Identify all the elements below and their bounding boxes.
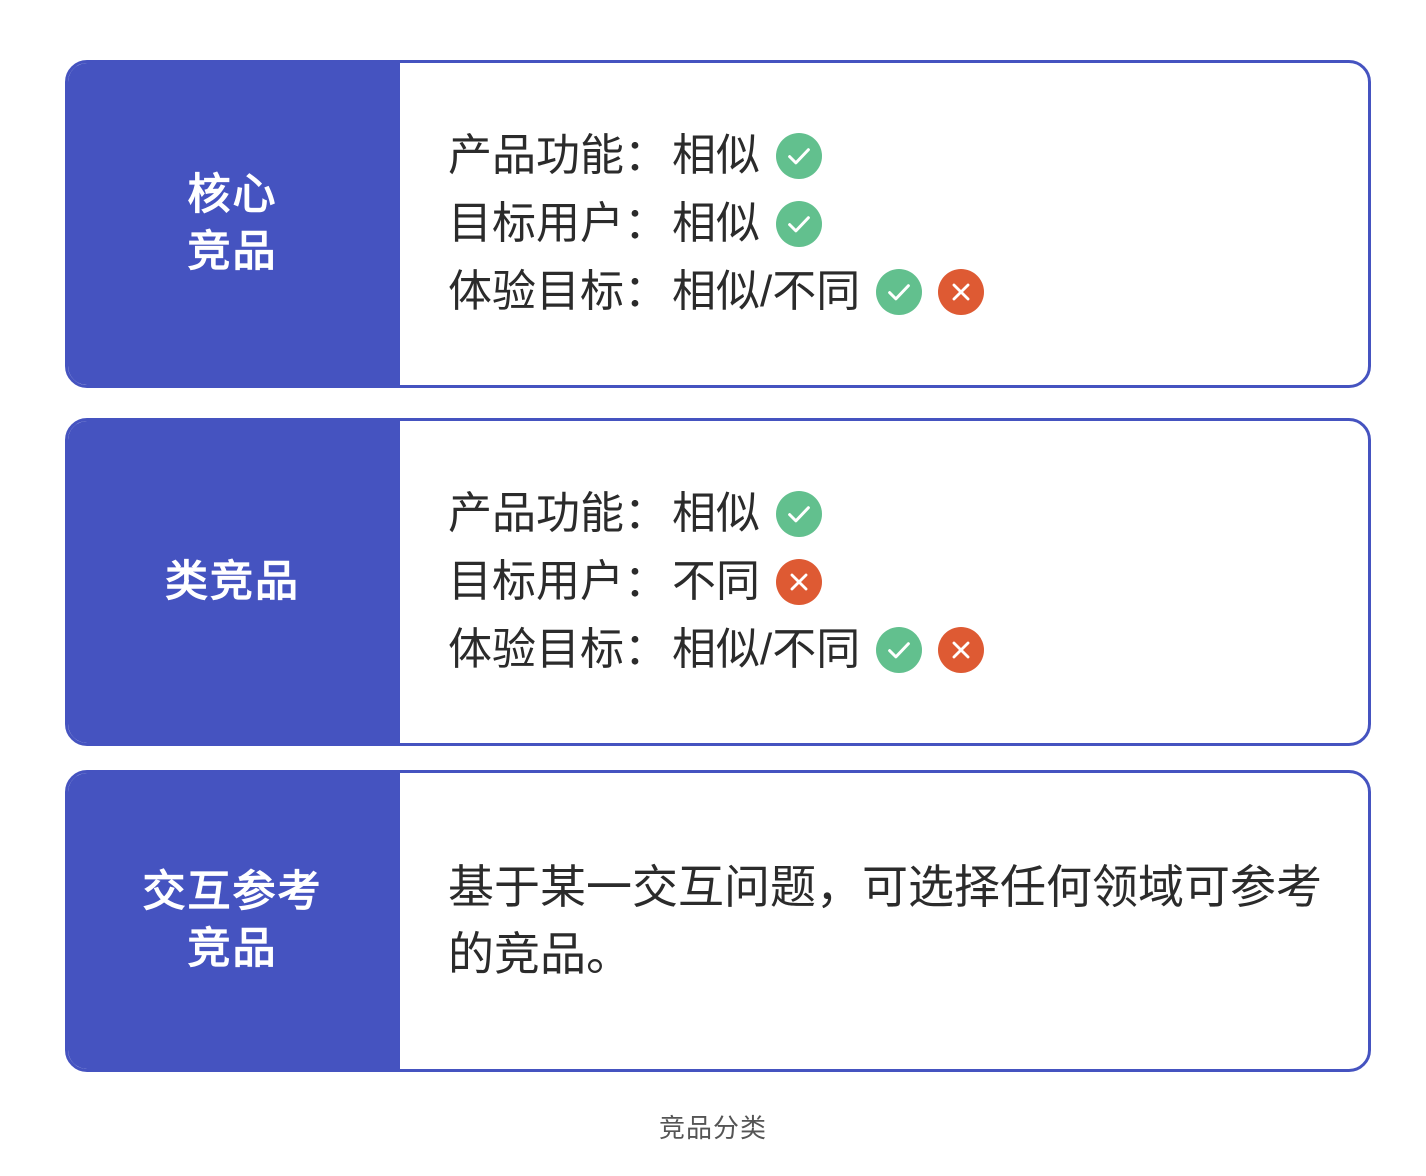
spec-value: 不同 (672, 560, 760, 604)
card-content-core-competitor: 产品功能： 相似 目标用户： 相似 (400, 63, 1368, 385)
card-content-similar-competitor: 产品功能： 相似 目标用户： 不同 (400, 421, 1368, 743)
check-icon (776, 491, 822, 537)
spec-row: 目标用户： 不同 (448, 559, 1334, 605)
card-content-interaction-reference-competitor: 基于某一交互问题，可选择任何领域可参考的竞品。 (400, 773, 1368, 1069)
cross-icon (938, 627, 984, 673)
cross-icon (776, 559, 822, 605)
figure-caption: 竞品分类 (0, 1108, 1426, 1145)
spec-row: 产品功能： 相似 (448, 491, 1334, 537)
spec-label: 产品功能： (448, 492, 668, 536)
spec-value: 相似 (672, 134, 760, 178)
card-label-similar-competitor: 类竞品 (65, 418, 400, 746)
spec-value: 相似 (672, 492, 760, 536)
card-label-interaction-reference-competitor: 交互参考 竞品 (65, 770, 400, 1072)
spec-row: 产品功能： 相似 (448, 133, 1334, 179)
card-label-core-competitor: 核心 竞品 (65, 60, 400, 388)
spec-label: 体验目标： (448, 270, 668, 314)
spec-badges (876, 627, 984, 673)
card-interaction-reference-competitor: 交互参考 竞品 基于某一交互问题，可选择任何领域可参考的竞品。 (65, 770, 1371, 1072)
spec-label: 目标用户： (448, 202, 668, 246)
spec-label: 目标用户： (448, 560, 668, 604)
spec-badges (776, 201, 822, 247)
card-paragraph: 基于某一交互问题，可选择任何领域可参考的竞品。 (448, 854, 1328, 988)
spec-value: 相似 (672, 202, 760, 246)
spec-label: 产品功能： (448, 134, 668, 178)
check-icon (876, 627, 922, 673)
spec-value: 相似/不同 (672, 628, 860, 672)
spec-label: 体验目标： (448, 628, 668, 672)
check-icon (876, 269, 922, 315)
spec-row: 目标用户： 相似 (448, 201, 1334, 247)
spec-badges (776, 559, 822, 605)
spec-badges (876, 269, 984, 315)
check-icon (776, 133, 822, 179)
check-icon (776, 201, 822, 247)
diagram-canvas: 核心 竞品 产品功能： 相似 目标用户： 相似 (0, 0, 1426, 1176)
spec-badges (776, 491, 822, 537)
spec-row: 体验目标： 相似/不同 (448, 269, 1334, 315)
spec-value: 相似/不同 (672, 270, 860, 314)
spec-badges (776, 133, 822, 179)
cross-icon (938, 269, 984, 315)
card-similar-competitor: 类竞品 产品功能： 相似 目标用户： 不同 (65, 418, 1371, 746)
spec-row: 体验目标： 相似/不同 (448, 627, 1334, 673)
card-core-competitor: 核心 竞品 产品功能： 相似 目标用户： 相似 (65, 60, 1371, 388)
